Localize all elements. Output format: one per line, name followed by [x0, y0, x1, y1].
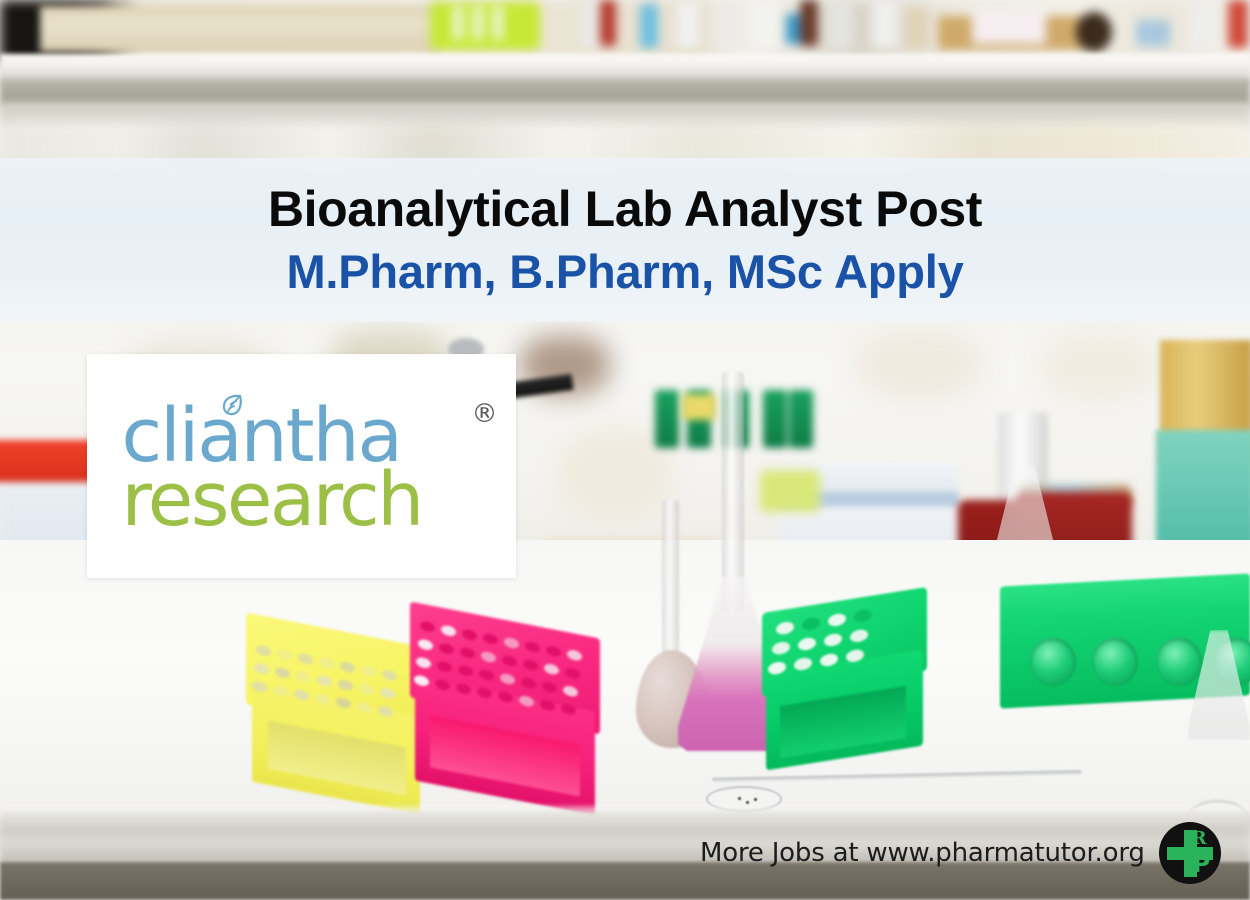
title-banner: Bioanalytical Lab Analyst Post M.Pharm, …	[0, 158, 1250, 322]
flask-neck	[722, 372, 744, 612]
pink-tube-rack	[410, 620, 600, 805]
page-subtitle: M.Pharm, B.Pharm, MSc Apply	[286, 247, 963, 296]
footer-website-text[interactable]: More Jobs at www.pharmatutor.org	[700, 838, 1145, 868]
petri-speck	[738, 797, 741, 800]
company-logo-card: cliantha ® research	[87, 354, 516, 578]
job-poster: Bioanalytical Lab Analyst Post M.Pharm, …	[0, 0, 1250, 900]
leaf-icon	[218, 393, 244, 419]
shelf-tube	[472, 6, 484, 40]
page-title: Bioanalytical Lab Analyst Post	[268, 184, 982, 235]
shelf-blue-item	[640, 4, 658, 48]
shelf-bottle	[906, 8, 928, 48]
shelf-blue-item	[1136, 20, 1170, 46]
registered-trademark-symbol: ®	[472, 399, 498, 429]
blur-blob	[1040, 332, 1160, 402]
green-vial	[789, 390, 813, 448]
shelf-bottle	[580, 0, 602, 48]
petri-speck	[754, 798, 757, 801]
shelf-bottle	[752, 2, 778, 48]
shelf-brown-item	[800, 0, 818, 46]
shelf-bottle	[1190, 2, 1216, 48]
yellow-tube-rack	[246, 630, 426, 800]
company-logo: cliantha ® research	[122, 391, 482, 541]
top-shelf-items	[0, 0, 1250, 60]
shelf-red-item	[1228, 0, 1248, 48]
shelf-tube	[452, 6, 464, 40]
logo-letter-r: R	[1192, 830, 1207, 848]
blur-blob	[854, 330, 984, 400]
logo-letter-p: P	[1193, 852, 1211, 876]
petri-speck	[746, 801, 749, 804]
company-name-secondary: research	[122, 457, 422, 543]
footer: More Jobs at www.pharmatutor.org R P	[700, 822, 1221, 884]
tube-hole-round	[1156, 638, 1202, 686]
shelf-bottle	[830, 2, 852, 48]
shelf-tube	[492, 6, 504, 40]
shelf-bottle	[716, 2, 740, 48]
green-tube-rack	[762, 600, 927, 765]
shelf-red-item	[600, 0, 616, 46]
flask-neck	[662, 500, 679, 668]
tube-hole-round	[1092, 638, 1138, 686]
shelf-bottle	[676, 2, 700, 48]
pharmatutor-logo-icon[interactable]: R P	[1159, 822, 1221, 884]
paper-note	[972, 10, 1046, 44]
dark-round-item	[1076, 12, 1112, 52]
tube-hole-round	[1030, 638, 1076, 686]
shelf-bottle	[872, 0, 898, 48]
green-vial	[655, 390, 679, 448]
lime-tube-rack-shelf	[430, 2, 540, 50]
